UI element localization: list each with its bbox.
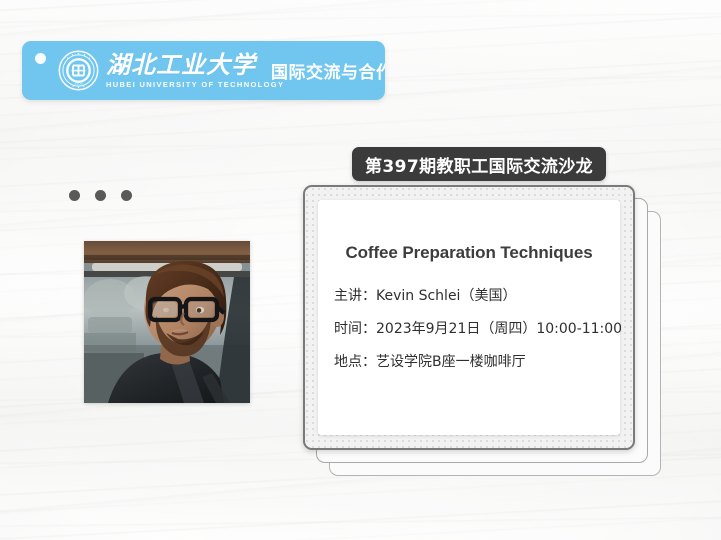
slide-canvas: 1952 湖北工业大学 HUBEI UNIVERSITY OF TECHNOLO… [0, 0, 721, 540]
svg-text:1952: 1952 [74, 80, 84, 85]
session-title-text: 第397期教职工国际交流沙龙 [365, 152, 593, 177]
header-ribbon: 1952 湖北工业大学 HUBEI UNIVERSITY OF TECHNOLO… [22, 41, 385, 100]
dot [95, 190, 106, 201]
event-title: Coffee Preparation Techniques [318, 243, 620, 263]
speaker-line: 主讲：Kevin Schlei（美国） [334, 288, 610, 305]
info-card-stack: Coffee Preparation Techniques 主讲：Kevin S… [303, 185, 635, 450]
info-card-inner-panel: Coffee Preparation Techniques 主讲：Kevin S… [318, 200, 620, 435]
info-card-front: Coffee Preparation Techniques 主讲：Kevin S… [303, 185, 635, 450]
university-crest-icon: 1952 [58, 50, 99, 91]
event-details: 主讲：Kevin Schlei（美国） 时间：2023年9月21日（周四）10:… [334, 288, 610, 387]
university-name-cn: 湖北工业大学 [106, 52, 266, 78]
punch-hole-icon [35, 53, 46, 64]
time-line: 时间：2023年9月21日（周四）10:00-11:00 [334, 321, 610, 338]
university-name-block: 湖北工业大学 HUBEI UNIVERSITY OF TECHNOLOGY [106, 52, 266, 92]
dot [69, 190, 80, 201]
speaker-photo [84, 241, 250, 403]
session-title-plate: 第397期教职工国际交流沙龙 [352, 147, 606, 181]
office-label: 国际交流与合作处 [271, 58, 385, 83]
three-dots-icon [69, 190, 132, 201]
location-line: 地点：艺设学院B座一楼咖啡厅 [334, 354, 610, 371]
university-name-en: HUBEI UNIVERSITY OF TECHNOLOGY [106, 80, 266, 89]
dot [121, 190, 132, 201]
